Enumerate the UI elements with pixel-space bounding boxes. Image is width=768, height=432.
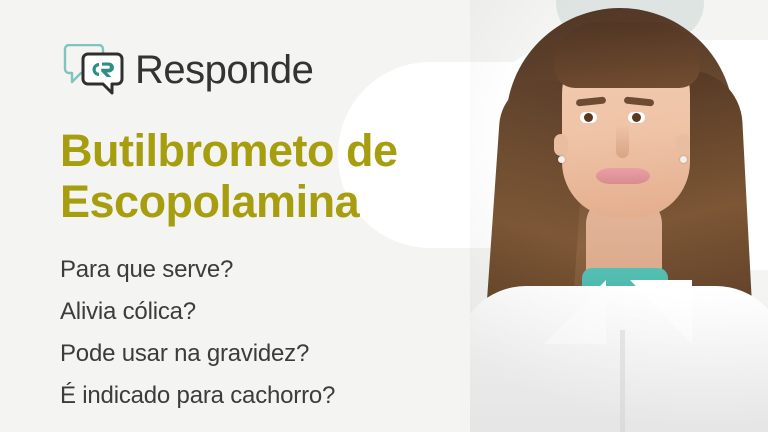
video-thumbnail: Responde Butilbrometo de Escopolamina Pa… xyxy=(0,0,768,432)
ear-right xyxy=(676,134,690,156)
hair-fringe xyxy=(554,22,700,88)
white-shirt xyxy=(470,286,768,432)
iris-right xyxy=(632,113,641,122)
shirt-collar-left xyxy=(544,280,606,344)
iris-left xyxy=(584,113,593,122)
chat-bubbles-cr-monogram-icon xyxy=(62,44,124,96)
brand-logo: Responde xyxy=(62,44,313,96)
lips xyxy=(596,168,650,184)
page-title-line-2: Escopolamina xyxy=(60,177,530,228)
shirt-placket xyxy=(620,330,625,432)
question-list: Para que serve? Alivia cólica? Pode usar… xyxy=(60,249,510,417)
question-item: É indicado para cachorro? xyxy=(60,375,510,417)
earring-left xyxy=(558,156,565,163)
page-title: Butilbrometo de Escopolamina xyxy=(60,126,530,228)
earring-right xyxy=(680,156,687,163)
page-title-line-1: Butilbrometo de xyxy=(60,126,530,177)
question-item: Para que serve? xyxy=(60,249,510,291)
shirt-collar-right xyxy=(630,280,692,344)
question-item: Alivia cólica? xyxy=(60,291,510,333)
question-item: Pode usar na gravidez? xyxy=(60,333,510,375)
nose xyxy=(616,124,629,158)
brand-wordmark: Responde xyxy=(135,50,313,90)
ear-left xyxy=(554,134,568,156)
